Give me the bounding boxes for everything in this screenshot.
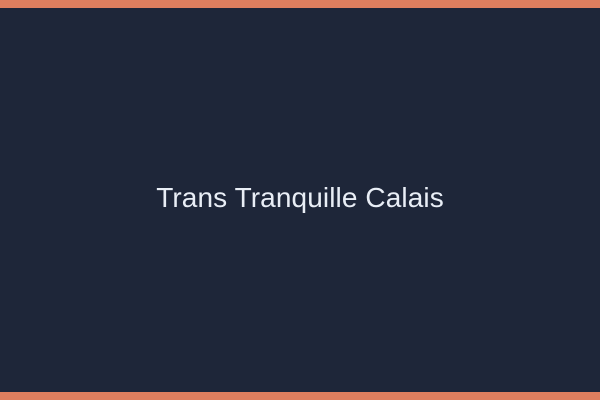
top-accent-band [0, 0, 600, 8]
placeholder-canvas: Trans Tranquille Calais [0, 8, 600, 392]
bottom-accent-band [0, 392, 600, 400]
placeholder-title: Trans Tranquille Calais [156, 181, 444, 215]
placeholder-card: Trans Tranquille Calais [0, 0, 600, 400]
